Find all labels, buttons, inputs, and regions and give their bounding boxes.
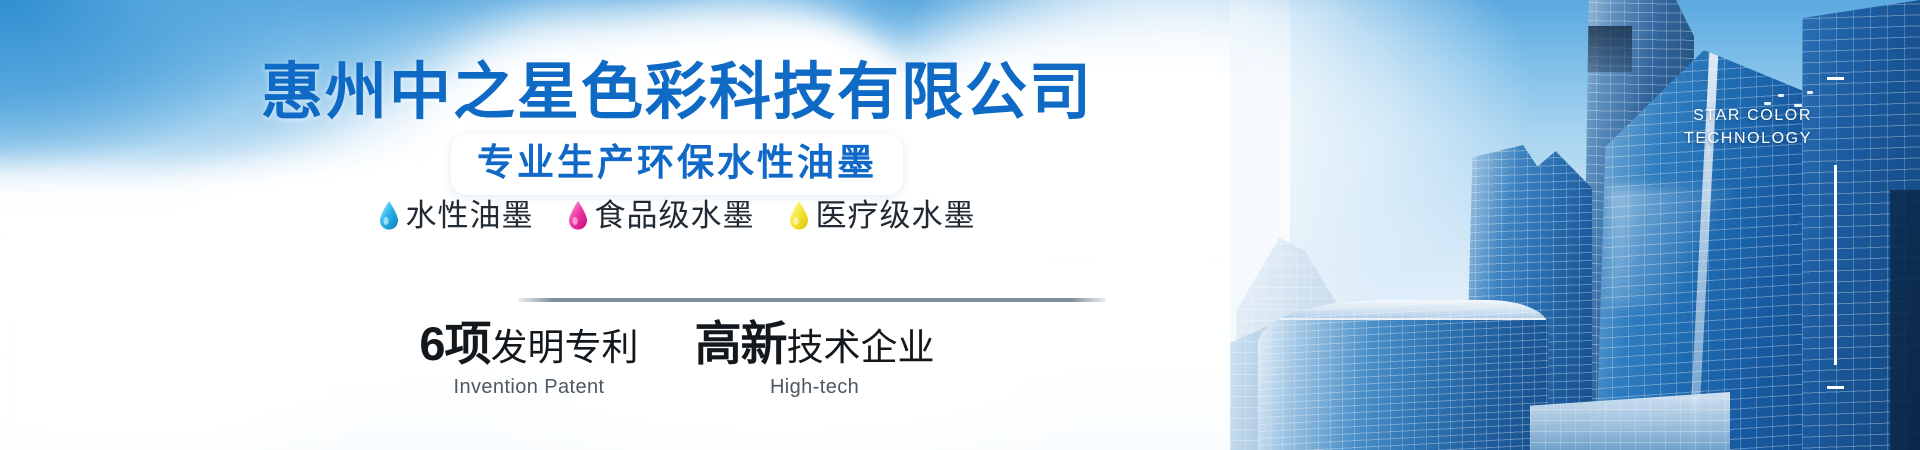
- water-drop-icon: [789, 201, 809, 230]
- water-drop-icon: [379, 201, 399, 230]
- credentials-row: 6项发明专利 Invention Patent 高新技术企业 High-tech: [0, 320, 1290, 397]
- badge-number: 6项: [419, 317, 490, 370]
- section-divider: [518, 298, 1106, 302]
- feature-item-food-grade-ink: 食品级水墨: [568, 200, 755, 231]
- accent-tick-top: [1827, 77, 1844, 80]
- company-title: 惠州中之星色彩科技有限公司: [0, 62, 1290, 124]
- city-label-line2: TECHNOLOGY: [1632, 127, 1812, 150]
- banner-content: 惠州中之星色彩科技有限公司 专业生产环保水性油墨 水性油墨: [0, 0, 1290, 450]
- star-color-technology-label: STAR COLOR TECHNOLOGY: [1632, 104, 1812, 150]
- tagline-text: 专业生产环保水性油墨: [477, 142, 877, 183]
- feature-item-medical-grade-ink: 医疗级水墨: [789, 200, 976, 231]
- divider-highlight: [512, 292, 1112, 296]
- badge-high-tech: 高新技术企业 High-tech: [695, 320, 935, 397]
- badge-suffix: 技术企业: [787, 327, 935, 368]
- badge-number: 高新: [695, 317, 787, 370]
- round-front-tower: [1258, 300, 1548, 450]
- feature-label: 水性油墨: [406, 200, 534, 231]
- feature-label: 食品级水墨: [595, 200, 755, 231]
- right-dark-sliver: [1890, 190, 1920, 450]
- city-label-line1: STAR COLOR: [1632, 104, 1812, 127]
- product-feature-list: 水性油墨 食品级水墨: [0, 200, 1290, 231]
- company-hero-banner: Star Color STAR COLOR TECHNOL: [0, 0, 1920, 450]
- badge-chinese: 6项发明专利: [419, 320, 638, 368]
- feature-label: 医疗级水墨: [816, 200, 976, 231]
- badge-english: High-tech: [695, 377, 935, 397]
- feature-item-water-ink: 水性油墨: [379, 200, 534, 231]
- skyscrapers-photo: STAR COLOR TECHNOLOGY: [1230, 0, 1920, 450]
- badge-suffix: 发明专利: [491, 327, 639, 368]
- badge-invention-patent: 6项发明专利 Invention Patent: [419, 320, 638, 397]
- water-drop-icon: [568, 201, 588, 230]
- tagline-row: 专业生产环保水性油墨: [0, 134, 1290, 195]
- badge-english: Invention Patent: [419, 377, 638, 397]
- accent-tick-bottom: [1827, 386, 1844, 389]
- accent-vertical-rule: [1834, 165, 1837, 365]
- company-title-text: 惠州中之星色彩科技有限公司: [197, 58, 1093, 127]
- badge-chinese: 高新技术企业: [695, 320, 935, 368]
- tagline-pill: 专业生产环保水性油墨: [451, 134, 903, 195]
